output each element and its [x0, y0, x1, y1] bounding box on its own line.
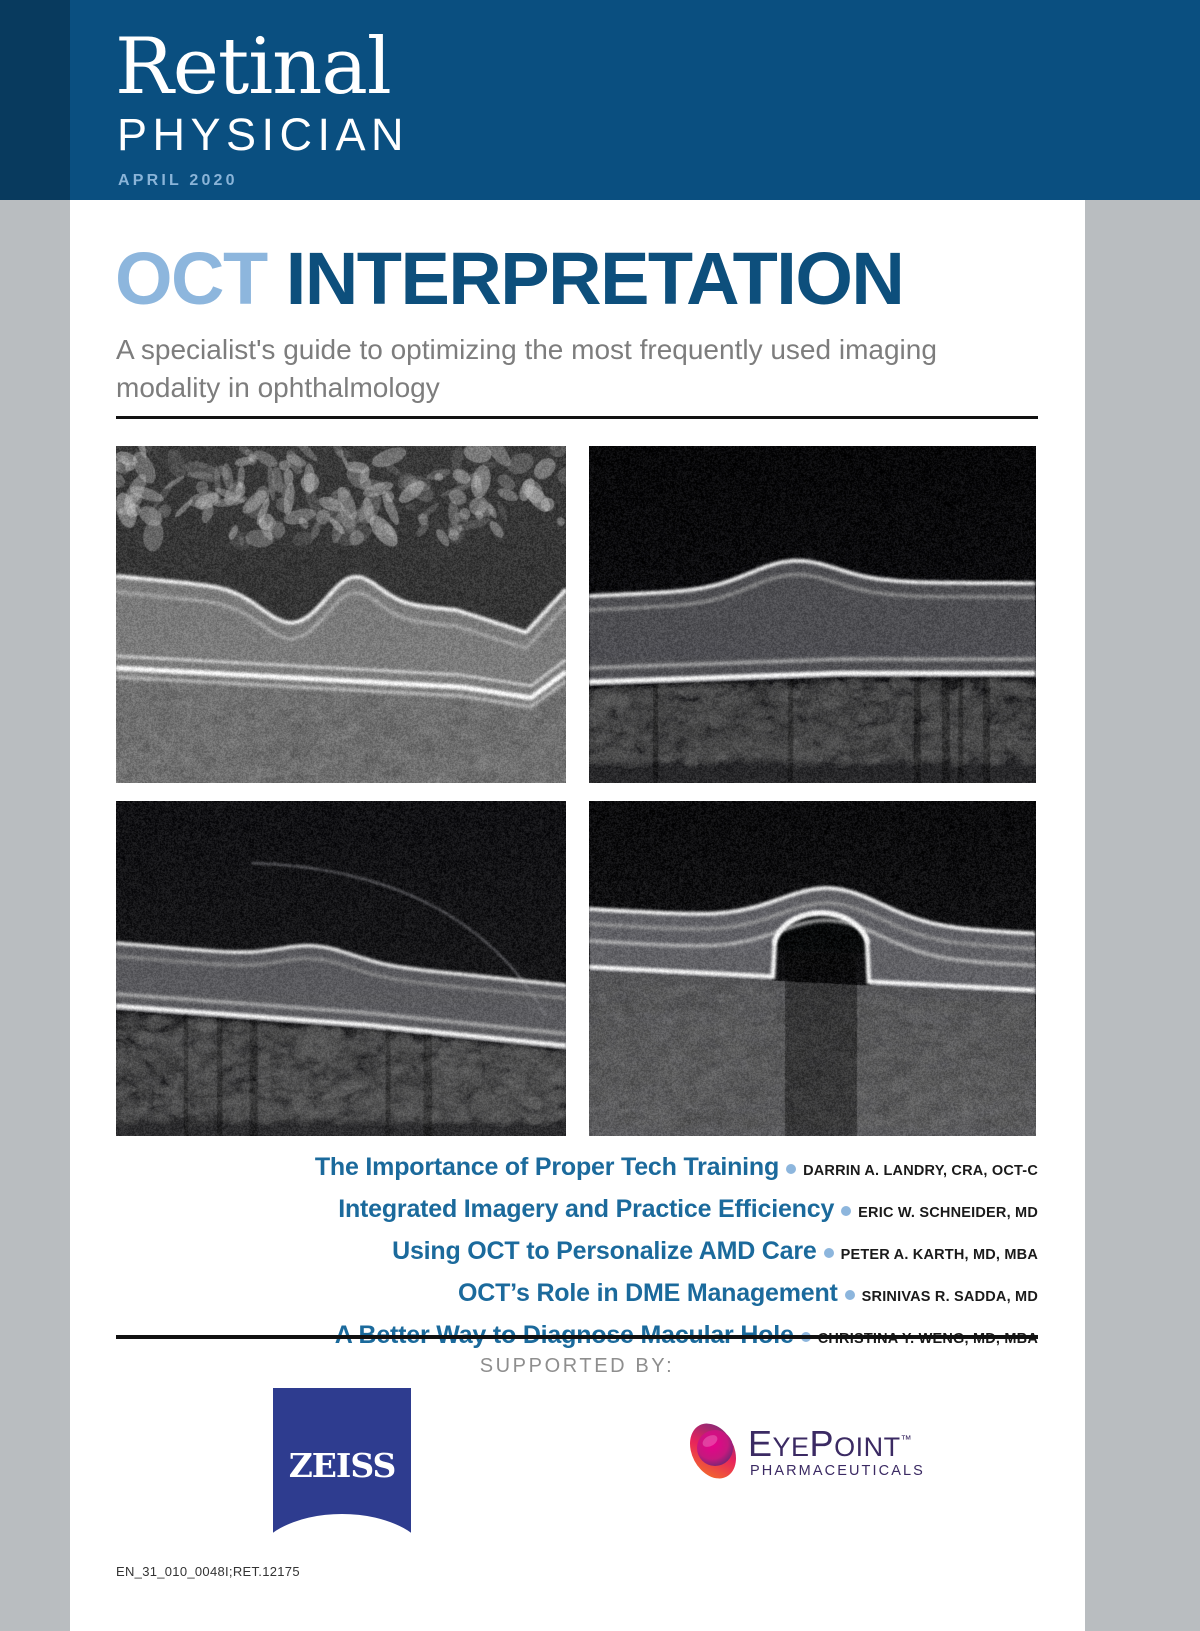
eyepoint-logo: EYEPOINT™ PHARMACEUTICALS [686, 1416, 966, 1496]
page-title-accent: OCT [115, 237, 267, 320]
eyepoint-mark-icon [686, 1420, 740, 1482]
footer-reference-code: EN_31_010_0048I;RET.12175 [116, 1564, 300, 1579]
eyepoint-wordmark: EYEPOINT™ [748, 1420, 912, 1467]
zeiss-logo: ZEISS [273, 1388, 411, 1536]
article-title: OCT’s Role in DME Management [458, 1279, 838, 1307]
divider-bottom [116, 1335, 1038, 1339]
oct-scan-bottom-left [116, 801, 566, 1136]
oct-scan-top-right [589, 446, 1036, 783]
bullet-dot-icon [786, 1164, 796, 1174]
eyepoint-word-oint: OINT [834, 1432, 901, 1462]
article-title: Using OCT to Personalize AMD Care [392, 1237, 817, 1265]
list-item[interactable]: OCT’s Role in DME ManagementSRINIVAS R. … [116, 1276, 1038, 1315]
article-author: PETER A. KARTH, MD, MBA [841, 1247, 1038, 1263]
article-title: The Importance of Proper Tech Training [315, 1153, 779, 1181]
bullet-dot-icon [841, 1206, 851, 1216]
eyepoint-word-ye: YE [773, 1432, 810, 1462]
sponsor-logos: ZEISS [116, 1388, 1038, 1538]
divider-top [116, 416, 1038, 419]
cover-page: OCT INTERPRETATION A specialist's guide … [70, 200, 1085, 1631]
supported-by-label: SUPPORTED BY: [116, 1355, 1038, 1378]
masthead-left-band [0, 0, 70, 200]
article-author: SRINIVAS R. SADDA, MD [862, 1289, 1038, 1305]
article-title: Integrated Imagery and Practice Efficien… [338, 1195, 834, 1223]
oct-image-grid [116, 446, 1036, 1136]
eyepoint-subtitle: PHARMACEUTICALS [750, 1463, 925, 1479]
masthead: Retinal PHYSICIAN APRIL 2020 [0, 0, 1200, 200]
masthead-right-band [1085, 0, 1200, 200]
article-author: CHRISTINA Y. WENG, MD, MBA [818, 1331, 1038, 1347]
list-item[interactable]: The Importance of Proper Tech TrainingDA… [116, 1150, 1038, 1189]
zeiss-wordmark: ZEISS [273, 1446, 411, 1485]
bullet-dot-icon [824, 1248, 834, 1258]
article-list: The Importance of Proper Tech TrainingDA… [116, 1150, 1038, 1360]
list-item[interactable]: Using OCT to Personalize AMD CarePETER A… [116, 1234, 1038, 1273]
bullet-dot-icon [845, 1290, 855, 1300]
article-author: DARRIN A. LANDRY, CRA, OCT-C [803, 1163, 1038, 1179]
page-title: OCT INTERPRETATION [115, 242, 903, 316]
list-item[interactable]: Integrated Imagery and Practice Efficien… [116, 1192, 1038, 1231]
article-author: ERIC W. SCHNEIDER, MD [858, 1205, 1038, 1221]
page-title-main: INTERPRETATION [286, 237, 904, 320]
magazine-logo-retinal: Retinal [115, 28, 391, 106]
oct-scan-bottom-right [589, 801, 1036, 1136]
magazine-logo-physician: PHYSICIAN [117, 112, 409, 157]
zeiss-logo-curve [273, 1514, 411, 1536]
trademark-icon: ™ [901, 1434, 913, 1446]
oct-scan-top-left [116, 446, 566, 783]
issue-date: APRIL 2020 [118, 172, 238, 190]
masthead-logo-area: Retinal PHYSICIAN APRIL 2020 [115, 0, 1085, 200]
zeiss-logo-box: ZEISS [273, 1388, 411, 1536]
page-subtitle: A specialist's guide to optimizing the m… [116, 331, 1046, 407]
eyepoint-word-p: P [810, 1423, 835, 1464]
eyepoint-word-e: E [748, 1423, 773, 1464]
